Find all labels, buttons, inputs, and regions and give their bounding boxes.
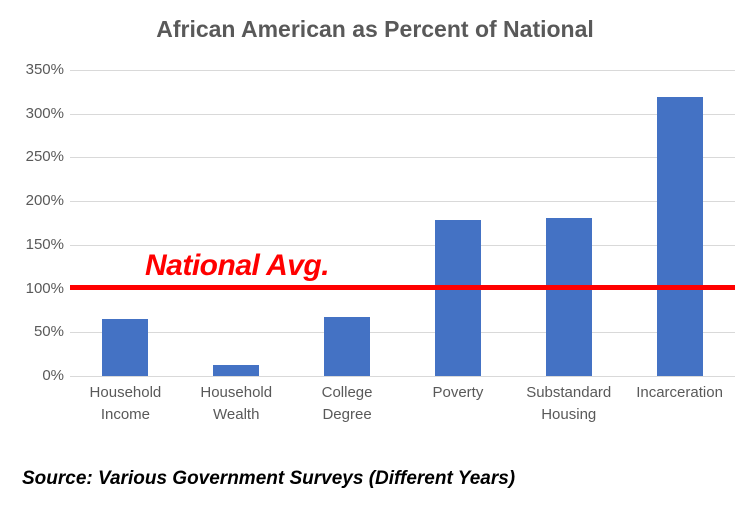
gridline: [70, 376, 735, 377]
x-axis: HouseholdIncomeHouseholdWealthCollegeDeg…: [70, 382, 735, 442]
bar-household-income[interactable]: [102, 319, 148, 376]
national-average-label: National Avg.: [145, 249, 329, 283]
bar-poverty[interactable]: [435, 220, 481, 376]
x-axis-category-label-line: Degree: [292, 404, 403, 426]
bar-slot: [403, 70, 514, 376]
x-axis-category-label-line: Incarceration: [624, 382, 735, 404]
bar-slot: [624, 70, 735, 376]
y-axis-tick-label: 150%: [8, 237, 64, 252]
bar-slot: [70, 70, 181, 376]
x-axis-category-label-line: Wealth: [181, 404, 292, 426]
x-axis-category-label-line: College: [292, 382, 403, 404]
x-axis-category-label-line: Income: [70, 404, 181, 426]
y-axis-tick-label: 100%: [8, 281, 64, 296]
y-axis: 350%300%250%200%150%100%50%0%: [0, 70, 64, 376]
chart-container: African American as Percent of National …: [0, 0, 750, 514]
bar-college-degree[interactable]: [324, 317, 370, 376]
bar-slot: [292, 70, 403, 376]
y-axis-tick-label: 250%: [8, 149, 64, 164]
y-axis-tick-label: 300%: [8, 106, 64, 121]
x-axis-category-label: Poverty: [403, 382, 514, 404]
x-axis-category-label-line: Poverty: [403, 382, 514, 404]
bar-incarceration[interactable]: [657, 97, 703, 376]
y-axis-tick-label: 200%: [8, 193, 64, 208]
x-axis-category-label-line: Household: [181, 382, 292, 404]
national-average-line: [70, 285, 735, 290]
x-axis-category-label: HouseholdIncome: [70, 382, 181, 426]
y-axis-tick-label: 0%: [8, 368, 64, 383]
x-axis-category-label-line: Household: [70, 382, 181, 404]
x-axis-category-label: SubstandardHousing: [513, 382, 624, 426]
x-axis-category-label: Incarceration: [624, 382, 735, 404]
plot-area: National Avg.: [70, 70, 735, 376]
bar-household-wealth[interactable]: [213, 365, 259, 376]
bar-slot: [513, 70, 624, 376]
y-axis-tick-label: 50%: [8, 324, 64, 339]
chart-title: African American as Percent of National: [0, 15, 750, 43]
source-note: Source: Various Government Surveys (Diff…: [22, 468, 515, 490]
bar-slot: [181, 70, 292, 376]
x-axis-category-label-line: Substandard: [513, 382, 624, 404]
x-axis-category-label-line: Housing: [513, 404, 624, 426]
y-axis-tick-label: 350%: [8, 62, 64, 77]
x-axis-category-label: CollegeDegree: [292, 382, 403, 426]
x-axis-category-label: HouseholdWealth: [181, 382, 292, 426]
bar-substandard-housing[interactable]: [546, 218, 592, 376]
